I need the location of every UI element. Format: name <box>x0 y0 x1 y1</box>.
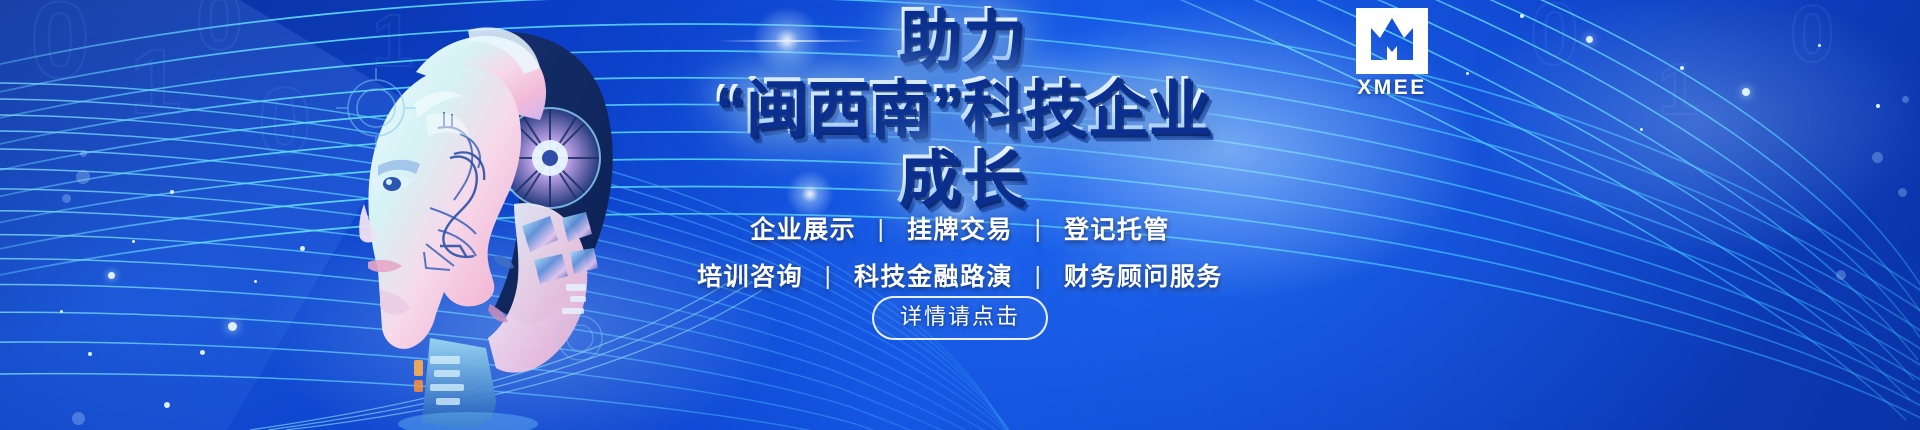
service-list: 企业展示 | 挂牌交易 | 登记托管 培训咨询 | 科技金融路演 | 财务顾问服… <box>600 218 1320 290</box>
service-item-registration-custody[interactable]: 登记托管 <box>1064 216 1170 244</box>
background-shade-overlay <box>0 0 470 330</box>
service-row-1: 企业展示 | 挂牌交易 | 登记托管 <box>600 218 1320 243</box>
service-item-listing-trading[interactable]: 挂牌交易 <box>907 216 1013 244</box>
crown-m-mark-icon <box>1356 8 1428 74</box>
service-separator: | <box>1034 217 1042 242</box>
background-light-wedge <box>0 0 420 430</box>
logo-wordmark: XMEE <box>1340 76 1444 100</box>
page-title: 助力 “闽西南”科技企业 成长 <box>600 6 1320 208</box>
service-separator: | <box>878 217 886 242</box>
service-row-2: 培训咨询 | 科技金融路演 | 财务顾问服务 <box>600 265 1320 290</box>
xmee-logo[interactable]: XMEE <box>1340 8 1444 100</box>
banner-content: 助力 “闽西南”科技企业 成长 企业展示 | 挂牌交易 | 登记托管 培训咨询 … <box>600 0 1320 430</box>
service-item-training-consulting[interactable]: 培训咨询 <box>697 263 803 291</box>
service-separator: | <box>825 264 833 289</box>
promo-banner: 0 1 0 1 0 0 1 0 <box>0 0 1920 430</box>
headline-line-2: “闽西南”科技企业 <box>600 76 1320 138</box>
digit-watermark: 1 <box>1658 54 1698 126</box>
digit-watermark: 0 <box>196 0 243 62</box>
details-button[interactable]: 详情请点击 <box>872 296 1048 340</box>
headline-line-1: 助力 <box>600 6 1320 68</box>
service-separator: | <box>1034 264 1042 289</box>
digit-watermark: 0 <box>1790 0 1835 74</box>
digit-watermark: 1 <box>130 36 181 128</box>
digit-watermark: 0 <box>258 74 311 170</box>
ai-robot-head-artwork <box>318 8 648 430</box>
service-item-financial-advisory[interactable]: 财务顾问服务 <box>1064 263 1223 291</box>
cta-container: 详情请点击 <box>600 296 1320 340</box>
digit-watermark: 0 <box>1530 0 1579 78</box>
service-item-tech-finance-roadshow[interactable]: 科技金融路演 <box>854 263 1013 291</box>
service-item-enterprise-display[interactable]: 企业展示 <box>750 216 856 244</box>
digit-watermark: 0 <box>30 0 90 94</box>
digit-watermark: 1 <box>372 4 413 78</box>
headline-line-3: 成长 <box>600 146 1320 208</box>
